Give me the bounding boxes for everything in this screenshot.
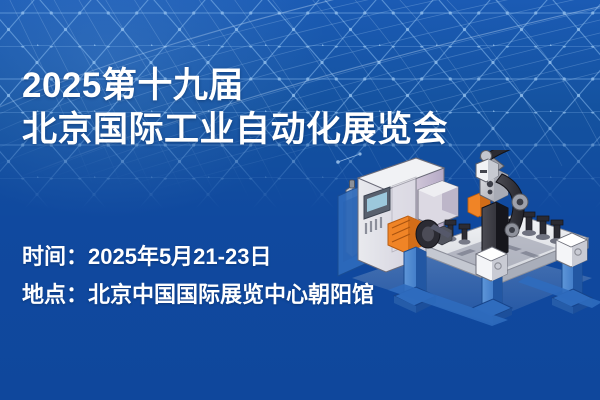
title-line-2: 北京国际工业自动化展览会 bbox=[22, 108, 448, 152]
node-dots bbox=[336, 152, 361, 163]
event-date: 时间：2025年5月21-23日 bbox=[22, 238, 374, 276]
event-venue: 地点：北京中国国际展览中心朝阳馆 bbox=[22, 276, 374, 314]
banner-title: 2025第十九届 北京国际工业自动化展览会 bbox=[22, 64, 448, 152]
exhibition-banner: 2025第十九届 北京国际工业自动化展览会 时间：2025年5月21-23日 地… bbox=[0, 0, 600, 400]
title-line-1: 2025第十九届 bbox=[22, 64, 448, 108]
banner-info: 时间：2025年5月21-23日 地点：北京中国国际展览中心朝阳馆 bbox=[22, 238, 374, 314]
